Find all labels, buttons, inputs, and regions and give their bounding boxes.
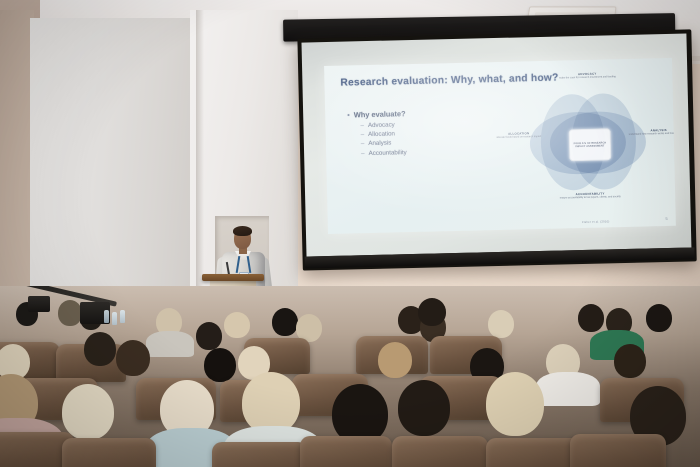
audience-head	[242, 372, 300, 434]
bullet-why-evaluate: Why evaluate?	[347, 109, 406, 119]
projection-screen: Research evaluation: Why, what, and how?…	[297, 23, 696, 270]
audience-head	[646, 304, 672, 332]
bullet-analysis: Analysis	[361, 140, 407, 148]
audience-head	[196, 322, 222, 350]
water-bottle	[112, 312, 117, 325]
audience-shoulders	[146, 331, 194, 357]
audience-head	[204, 348, 236, 382]
water-bottle	[120, 310, 125, 323]
audience-head	[418, 298, 446, 326]
seat	[486, 438, 582, 467]
venn-label-allocation: ALLOCATION allocate funds based on resea…	[488, 131, 550, 140]
seat	[392, 436, 488, 467]
slide-citation: Fisher et al. (2010)	[556, 219, 636, 225]
auditorium-photo: Research evaluation: Why, what, and how?…	[0, 0, 700, 467]
slide-bullet-list: Why evaluate? Advocacy Allocation Analys…	[347, 109, 407, 159]
audience	[0, 286, 700, 467]
pillar-shadow	[196, 10, 204, 330]
screen-frame: Research evaluation: Why, what, and how?…	[297, 29, 696, 270]
audience-shoulders	[536, 372, 600, 406]
bullet-accountability: Accountability	[361, 149, 407, 157]
seat	[62, 438, 156, 467]
audience-head	[398, 380, 450, 436]
seat	[570, 434, 666, 467]
wall-pillar	[30, 18, 202, 330]
screen-surface: Research evaluation: Why, what, and how?…	[301, 34, 691, 257]
venn-center-text: FOUR A'S OF RESEARCH IMPACT ASSESSMENT	[570, 141, 610, 149]
bullet-allocation: Allocation	[361, 130, 407, 138]
audience-head	[116, 340, 150, 376]
audience-head	[614, 344, 646, 378]
audience-head	[332, 384, 388, 444]
audience-head	[486, 372, 544, 436]
audience-head	[84, 332, 116, 366]
seat	[212, 442, 308, 467]
audience-head	[58, 300, 82, 326]
venn-label-advocacy: ADVOCACY make the case for research inve…	[541, 71, 633, 80]
venn-diagram: FOUR A'S OF RESEARCH IMPACT ASSESSMENT A…	[512, 72, 665, 217]
audience-head	[488, 310, 514, 338]
audience-head	[62, 384, 114, 440]
venn-label-analysis-body: understand how research works and how to…	[628, 131, 676, 136]
camera-body	[28, 296, 50, 312]
venn-label-accountability: ACCOUNTABILITY ensure accountability to …	[544, 191, 636, 200]
water-bottle	[104, 310, 109, 323]
left-wall	[0, 10, 34, 330]
seat	[300, 436, 392, 467]
bullet-advocacy: Advocacy	[360, 121, 406, 129]
projected-slide: Research evaluation: Why, what, and how?…	[324, 58, 676, 234]
slide-number: 5	[665, 216, 667, 221]
venn-label-analysis: ANALYSIS understand how research works a…	[628, 127, 676, 136]
podium-top-surface	[202, 274, 264, 281]
audience-head	[272, 308, 298, 336]
audience-head	[378, 342, 412, 378]
audience-head	[578, 304, 604, 332]
audience-head	[224, 312, 250, 338]
speaker-hair	[233, 226, 252, 236]
venn-center-label: FOUR A'S OF RESEARCH IMPACT ASSESSMENT	[569, 128, 612, 161]
